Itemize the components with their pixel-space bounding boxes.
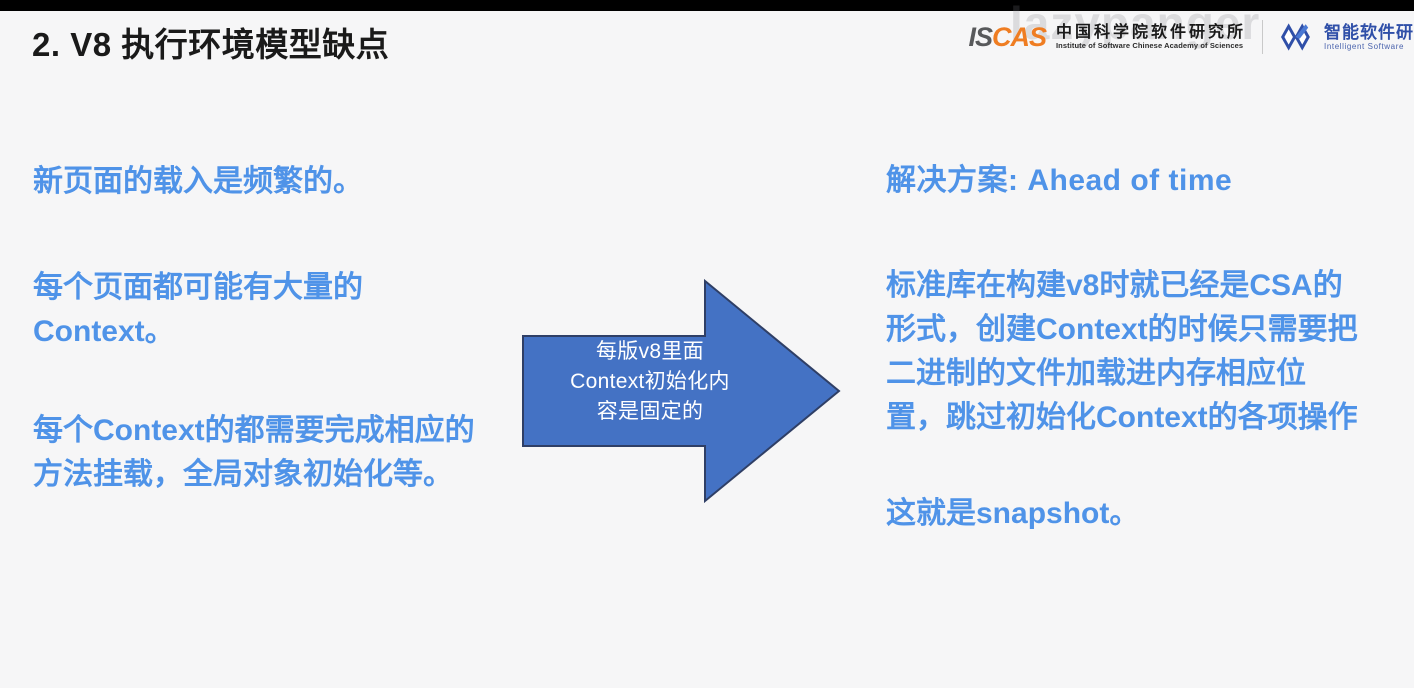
iscas-wordmark-cas: CAS xyxy=(992,22,1046,52)
logo-divider xyxy=(1262,20,1263,54)
left-paragraph-3: 每个Context的都需要完成相应的方法挂载，全局对象初始化等。 xyxy=(33,409,503,497)
presentation-slide: 2. V8 执行环境模型缺点 lazypanger ISCAS 中国科学院软件研… xyxy=(0,0,1414,688)
arrow-label-line-2: Context初始化内 xyxy=(538,367,762,397)
left-paragraph-2: 每个页面都可能有大量的Context。 xyxy=(33,266,503,354)
iscas-name-en: Institute of Software Chinese Academy of… xyxy=(1056,42,1246,50)
right-content-column: 解决方案: Ahead of time 标准库在构建v8时就已经是CSA的形式，… xyxy=(886,160,1361,536)
solution-body: 标准库在构建v8时就已经是CSA的形式，创建Context的时候只需要把二进制的… xyxy=(886,264,1361,440)
right-arrow-callout: 每版v8里面 Context初始化内 容是固定的 xyxy=(520,279,842,503)
arrow-label-line-3: 容是固定的 xyxy=(538,397,762,427)
iscas-wordmark-icon: ISCAS xyxy=(968,24,1046,51)
arrow-label-line-1: 每版v8里面 xyxy=(538,337,762,367)
letterbox-top-bar xyxy=(0,0,1414,11)
intelligent-software-logo: 智能软件研 Intelligent Software xyxy=(1279,20,1414,54)
left-paragraph-1: 新页面的载入是频繁的。 xyxy=(33,160,503,204)
intelligent-software-names: 智能软件研 Intelligent Software xyxy=(1324,23,1414,52)
arrow-label: 每版v8里面 Context初始化内 容是固定的 xyxy=(538,337,762,426)
iscas-names: 中国科学院软件研究所 Institute of Software Chinese… xyxy=(1056,24,1246,50)
intelligent-software-name-cn: 智能软件研 xyxy=(1324,23,1414,43)
page-title: 2. V8 执行环境模型缺点 xyxy=(32,18,389,66)
iscas-logo: ISCAS 中国科学院软件研究所 Institute of Software C… xyxy=(968,24,1246,51)
left-content-column: 新页面的载入是频繁的。 每个页面都可能有大量的Context。 每个Contex… xyxy=(33,160,503,497)
logo-bar: ISCAS 中国科学院软件研究所 Institute of Software C… xyxy=(968,12,1414,62)
intelligent-software-name-en: Intelligent Software xyxy=(1324,42,1414,51)
iscas-name-cn: 中国科学院软件研究所 xyxy=(1056,24,1246,42)
diamond-logo-icon xyxy=(1279,20,1317,54)
iscas-wordmark-is: IS xyxy=(968,22,992,52)
solution-heading: 解决方案: Ahead of time xyxy=(886,160,1361,202)
solution-tail: 这就是snapshot。 xyxy=(886,492,1361,536)
